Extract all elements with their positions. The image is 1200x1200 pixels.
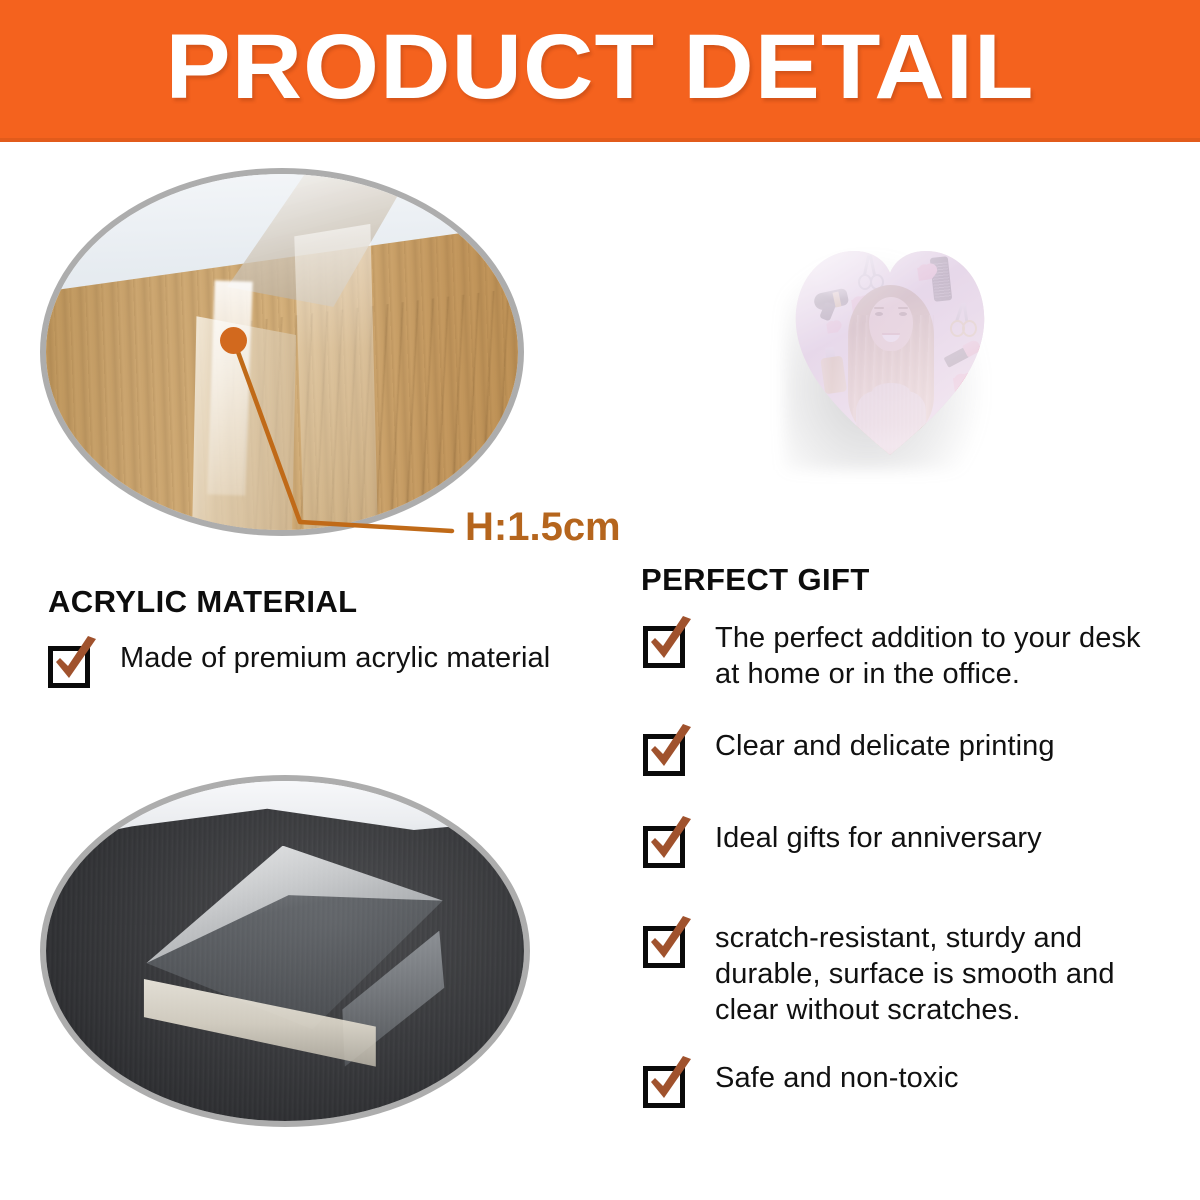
heart-acrylic-photo-block [778, 215, 998, 480]
feature-text: Safe and non-toxic [715, 1060, 959, 1096]
feature-item-gift-3: Ideal gifts for anniversary [643, 820, 1163, 868]
feature-item-gift-2: Clear and delicate printing [643, 728, 1163, 776]
section-heading-acrylic-material: ACRYLIC MATERIAL [48, 584, 357, 620]
checkbox-checked-icon [48, 642, 94, 688]
section-heading-perfect-gift: PERFECT GIFT [641, 562, 870, 598]
heart-shape [792, 227, 988, 457]
acrylic-block-on-wood-photo [40, 168, 524, 536]
photo-inner-slate [46, 781, 524, 1121]
header-banner: PRODUCT DETAIL [0, 0, 1200, 142]
dimension-label: H:1.5cm [465, 505, 621, 550]
feature-item-gift-1: The perfect addition to your desk at hom… [643, 620, 1163, 692]
feature-item-gift-5: Safe and non-toxic [643, 1060, 1163, 1108]
acrylic-block-on-slate-photo [40, 775, 530, 1127]
heart-acrylic-rim [792, 227, 988, 457]
feature-text: Made of premium acrylic material [120, 640, 550, 676]
feature-item-gift-4: scratch-resistant, sturdy and durable, s… [643, 920, 1183, 1028]
acrylic-edge-highlight [207, 280, 252, 495]
checkbox-checked-icon [643, 730, 689, 776]
dimension-dot-icon [220, 327, 247, 354]
checkbox-checked-icon [643, 622, 689, 668]
feature-text: Ideal gifts for anniversary [715, 820, 1042, 856]
checkbox-checked-icon [643, 822, 689, 868]
feature-item-acrylic-1: Made of premium acrylic material [48, 640, 608, 688]
page-title: PRODUCT DETAIL [0, 14, 1200, 120]
feature-text: Clear and delicate printing [715, 728, 1055, 764]
photo-inner-wood [46, 174, 518, 530]
product-detail-page: PRODUCT DETAIL H:1.5cm [0, 0, 1200, 1200]
checkbox-checked-icon [643, 1062, 689, 1108]
checkbox-checked-icon [643, 922, 689, 968]
feature-text: scratch-resistant, sturdy and durable, s… [715, 920, 1183, 1028]
feature-text: The perfect addition to your desk at hom… [715, 620, 1163, 692]
